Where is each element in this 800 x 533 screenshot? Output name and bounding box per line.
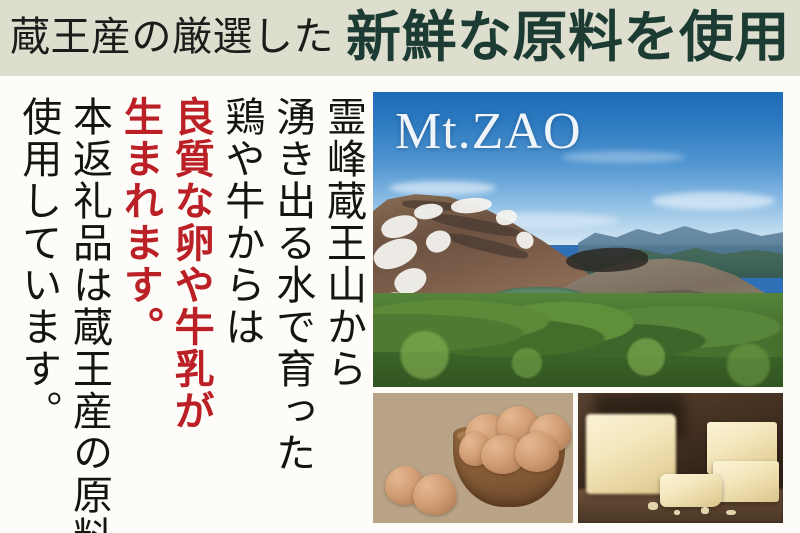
photo-mount-zao: Mt.ZAO [373, 92, 783, 387]
mount-zao-caption: Mt.ZAO [395, 106, 582, 158]
body-column-5-emphasis: 生まれます。 [118, 96, 161, 516]
butter-crumb [726, 510, 736, 515]
butter-block-front [660, 474, 722, 508]
body-column-3: 鶏や牛からは [220, 96, 263, 516]
headline-lead-text: 蔵王産の厳選した [10, 17, 334, 59]
body-column-1: 霊峰蔵王山から [321, 96, 364, 516]
cloud-wisp [389, 181, 496, 196]
body-column-2: 湧き出る水で育った [270, 96, 313, 516]
cloud-wisp [652, 192, 775, 210]
photo-butter [578, 393, 783, 523]
foreground-shrubs [373, 293, 783, 387]
egg [515, 432, 559, 472]
body-column-4-emphasis: 良質な卵や牛乳が [169, 96, 212, 516]
page-title: 蔵王産の厳選した 新鮮な原料を使用 [0, 0, 800, 76]
photo-eggs [373, 393, 573, 523]
butter-crumb [701, 507, 709, 514]
promo-banner: 蔵王産の厳選した 新鮮な原料を使用 霊峰蔵王山から 湧き出る水で育った 鶏や牛か… [0, 0, 800, 533]
body-column-7: 使用しています。 [16, 96, 59, 516]
butter-crumb [648, 502, 658, 510]
egg [413, 474, 457, 516]
body-column-6: 本返礼品は蔵王産の原料を [67, 96, 110, 516]
vertical-body-copy: 霊峰蔵王山から 湧き出る水で育った 鶏や牛からは 良質な卵や牛乳が 生まれます。… [12, 96, 364, 516]
headline-accent-text: 新鮮な原料を使用 [346, 10, 790, 67]
butter-block-middle [713, 461, 779, 503]
